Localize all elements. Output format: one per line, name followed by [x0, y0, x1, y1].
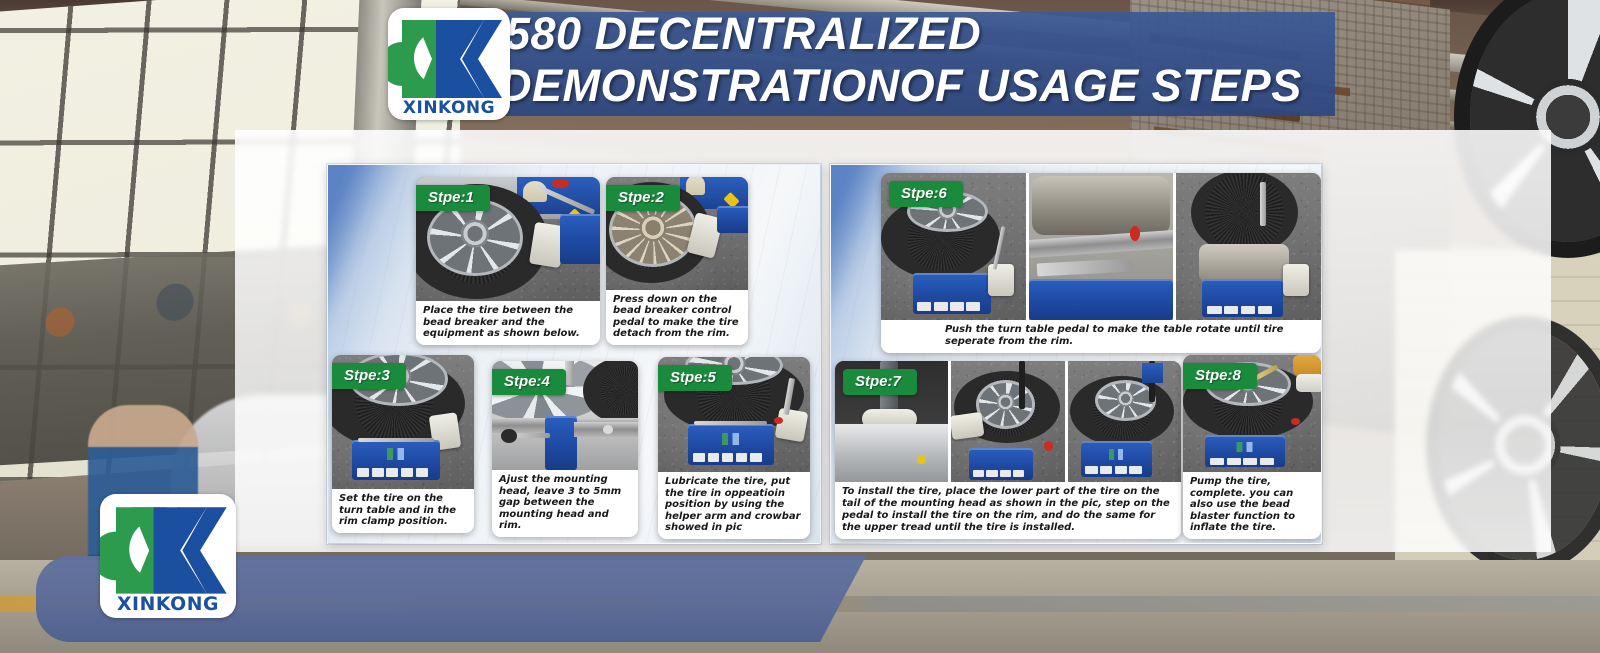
step-card-4[interactable]: Stpe:4 Ajust the mounting head, leave 3 … — [492, 361, 638, 537]
step-card-3[interactable]: Stpe:3 Set the tire on the turn table an… — [332, 355, 474, 533]
page-title-line-1: 580 DECENTRALIZED — [505, 8, 1405, 60]
step-badge-3: Stpe:3 — [332, 363, 406, 389]
step-caption-3: Set the tire on the turn table and in th… — [332, 489, 474, 533]
step-card-1[interactable]: Stpe:1 Place the tire between the bead b… — [416, 177, 600, 345]
step-photo-6b — [1029, 173, 1174, 320]
step-photo-7c — [1068, 361, 1181, 482]
step-badge-7: Stpe:7 — [843, 369, 917, 395]
step-caption-7: To install the tire, place the lower par… — [835, 482, 1181, 539]
step-card-2[interactable]: Stpe:2 Press down on the bead breaker co… — [606, 177, 748, 345]
xinkong-logo-header: XINKONG — [388, 8, 510, 120]
svg-text:XINKONG: XINKONG — [403, 98, 495, 118]
step-badge-5: Stpe:5 — [658, 365, 732, 391]
page-title-line-2: DEMONSTRATIONOF USAGE STEPS — [499, 60, 1405, 112]
steps-board-left: Stpe:1 Place the tire between the bead b… — [327, 164, 821, 544]
header: 580 DECENTRALIZED DEMONSTRATIONOF USAGE … — [0, 0, 1600, 128]
step-badge-4: Stpe:4 — [492, 369, 566, 395]
step-photo-7b — [951, 361, 1064, 482]
steps-board-right: Stpe:6 Push the turn table pedal to make… — [830, 164, 1322, 544]
xinkong-logo-icon: XINKONG — [388, 8, 510, 120]
step-card-5[interactable]: Stpe:5 Lubricate the tire, put the tire … — [658, 357, 810, 539]
step-photo-6c — [1176, 173, 1321, 320]
step-badge-2: Stpe:2 — [606, 185, 680, 211]
step-caption-1: Place the tire between the bead breaker … — [416, 301, 600, 345]
step-card-8[interactable]: Stpe:8 Pump the tire, complete. you can … — [1183, 355, 1321, 539]
step-badge-8: Stpe:8 — [1183, 363, 1257, 389]
step-card-6[interactable]: Stpe:6 Push the turn table pedal to make… — [881, 173, 1321, 353]
step-caption-8: Pump the tire, complete. you can also us… — [1183, 472, 1321, 539]
xinkong-logo-footer-icon: XINKONG — [100, 494, 236, 618]
page-title: 580 DECENTRALIZED DEMONSTRATIONOF USAGE … — [505, 8, 1405, 112]
step-card-7[interactable]: Stpe:7 To install the tire, place the lo… — [835, 361, 1181, 539]
step-caption-6: Push the turn table pedal to make the ta… — [881, 320, 1321, 353]
step-caption-5: Lubricate the tire, put the tire in oppe… — [658, 472, 810, 539]
step-badge-1: Stpe:1 — [416, 185, 490, 211]
xinkong-logo-footer: XINKONG — [100, 494, 236, 618]
svg-text:XINKONG: XINKONG — [117, 594, 219, 615]
step-badge-6: Stpe:6 — [889, 181, 963, 207]
step-caption-2: Press down on the bead breaker control p… — [606, 290, 748, 345]
step-caption-4: Ajust the mounting head, leave 3 to 5mm … — [492, 470, 638, 537]
